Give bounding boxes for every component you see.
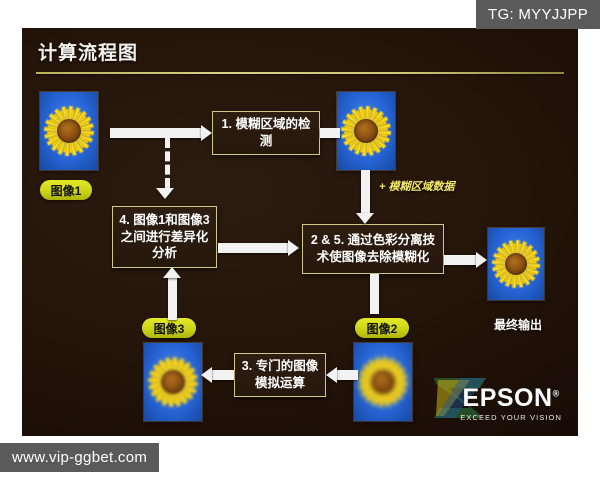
label-img3: 图像3: [142, 318, 196, 338]
epson-tagline: EXCEED YOUR VISION: [460, 413, 562, 422]
arrow-step3-to-img3-shaft: [212, 370, 234, 380]
arrow-img3-to-step4-shaft: [168, 278, 177, 320]
image-thumbnail-img3[interactable]: [144, 343, 202, 421]
arrow-img3-to-step4-head: [163, 267, 181, 278]
arrow-step3-to-img3-head: [201, 367, 212, 383]
arrow-step25-to-final-shaft: [444, 255, 477, 265]
screenshot-canvas: 计算流程图 图像1: [0, 0, 600, 480]
dashed-connector-step4-head: [156, 188, 174, 199]
arrow-step4-to-step25-shaft: [218, 243, 288, 253]
arrow-img2-to-step3-head: [326, 367, 337, 383]
process-box-step3[interactable]: 3. 专门的图像模拟运算: [234, 353, 326, 397]
caption-final-output: 最终输出: [494, 316, 542, 333]
epson-trademark: ®: [553, 389, 560, 399]
arrow-step25-to-img2-shaft: [370, 274, 379, 314]
arrow-detected-down-head: [356, 213, 374, 224]
process-box-step4[interactable]: 4. 图像1和图像3之间进行差异化分析: [112, 206, 217, 268]
image-thumbnail-img2[interactable]: [354, 343, 412, 421]
epson-wordmark: EPSON®: [460, 386, 562, 411]
title-divider: [36, 72, 564, 74]
epson-logo: EPSON® EXCEED YOUR VISION: [460, 386, 562, 422]
label-img2: 图像2: [355, 318, 409, 338]
presentation-slide: 计算流程图 图像1: [22, 28, 578, 436]
arrow-detected-down-shaft: [361, 170, 370, 214]
label-img1: 图像1: [40, 180, 92, 200]
image-thumbnail-detected[interactable]: [337, 92, 395, 170]
arrow-step25-to-final-head: [476, 252, 487, 268]
dashed-connector-step4: [165, 138, 170, 188]
arrow-img1-to-step1-shaft: [110, 128, 202, 138]
arrow-img1-to-step1-head: [201, 125, 212, 141]
arrow-step4-to-step25-head: [288, 240, 299, 256]
watermark-telegram: TG: MYYJJPP: [476, 0, 600, 29]
arrow-img2-to-step3-shaft: [337, 370, 358, 380]
process-box-step1[interactable]: 1. 模糊区域的检测: [212, 111, 320, 155]
annotation-blur-data: + 模糊区域数据: [379, 178, 454, 194]
process-box-step25[interactable]: 2 & 5. 通过色彩分离技术使图像去除模糊化: [302, 224, 444, 274]
watermark-url: www.vip-ggbet.com: [0, 443, 159, 472]
arrow-step1-to-image-shaft: [320, 128, 340, 138]
image-thumbnail-img1[interactable]: [40, 92, 98, 170]
epson-name: EPSON: [463, 384, 553, 412]
image-thumbnail-final[interactable]: [488, 228, 544, 300]
page-title: 计算流程图: [38, 38, 138, 65]
